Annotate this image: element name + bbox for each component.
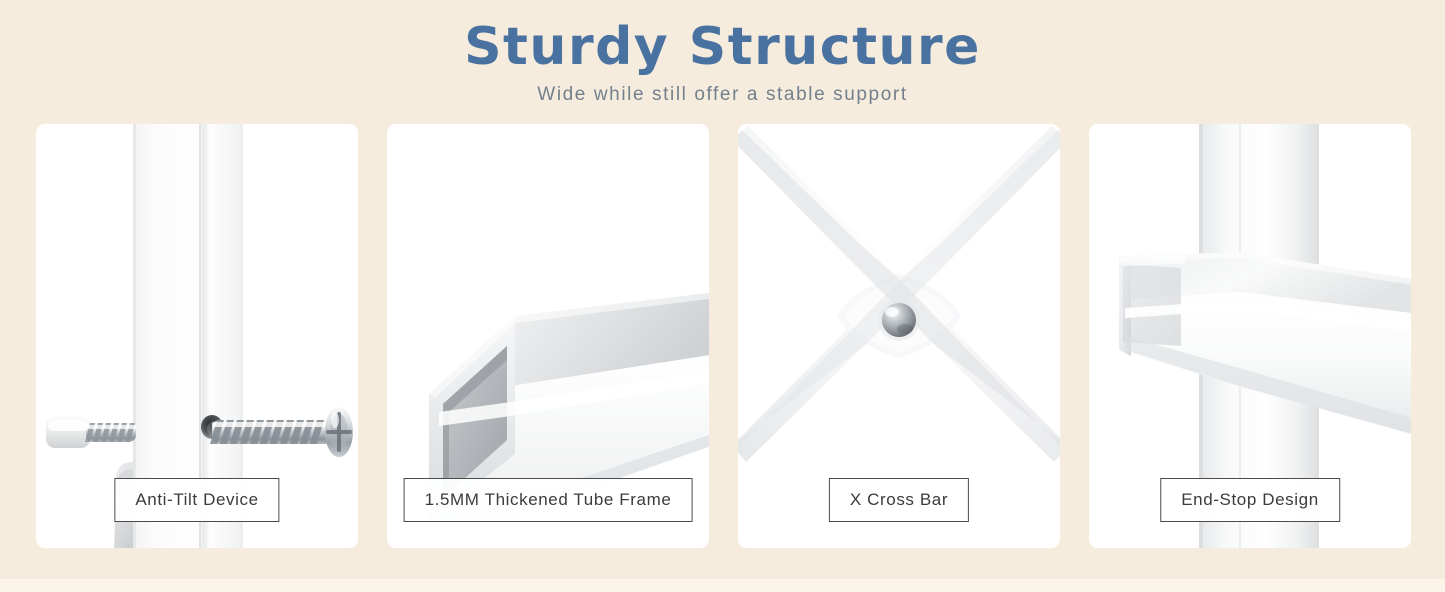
feature-panel-end-stop-design[interactable]: End-Stop Design (1089, 124, 1411, 548)
panel-caption: 1.5MM Thickened Tube Frame (404, 478, 693, 522)
feature-panel-anti-tilt-device[interactable]: Anti-Tilt Device (36, 124, 358, 548)
page-subtitle: Wide while still offer a stable support (0, 82, 1445, 108)
header: Sturdy Structure Wide while still offer … (0, 16, 1445, 108)
feature-panel-row: Anti-Tilt Device (36, 124, 1411, 548)
feature-panel-thickened-tube-frame[interactable]: 1.5MM Thickened Tube Frame (387, 124, 709, 548)
panel-caption: End-Stop Design (1160, 478, 1340, 522)
page-title: Sturdy Structure (0, 16, 1445, 78)
feature-panel-x-cross-bar[interactable]: X Cross Bar (738, 124, 1060, 548)
bottom-band (0, 579, 1445, 592)
panel-caption: X Cross Bar (829, 478, 969, 522)
promo-banner: Sturdy Structure Wide while still offer … (0, 0, 1445, 592)
panel-caption: Anti-Tilt Device (114, 478, 279, 522)
